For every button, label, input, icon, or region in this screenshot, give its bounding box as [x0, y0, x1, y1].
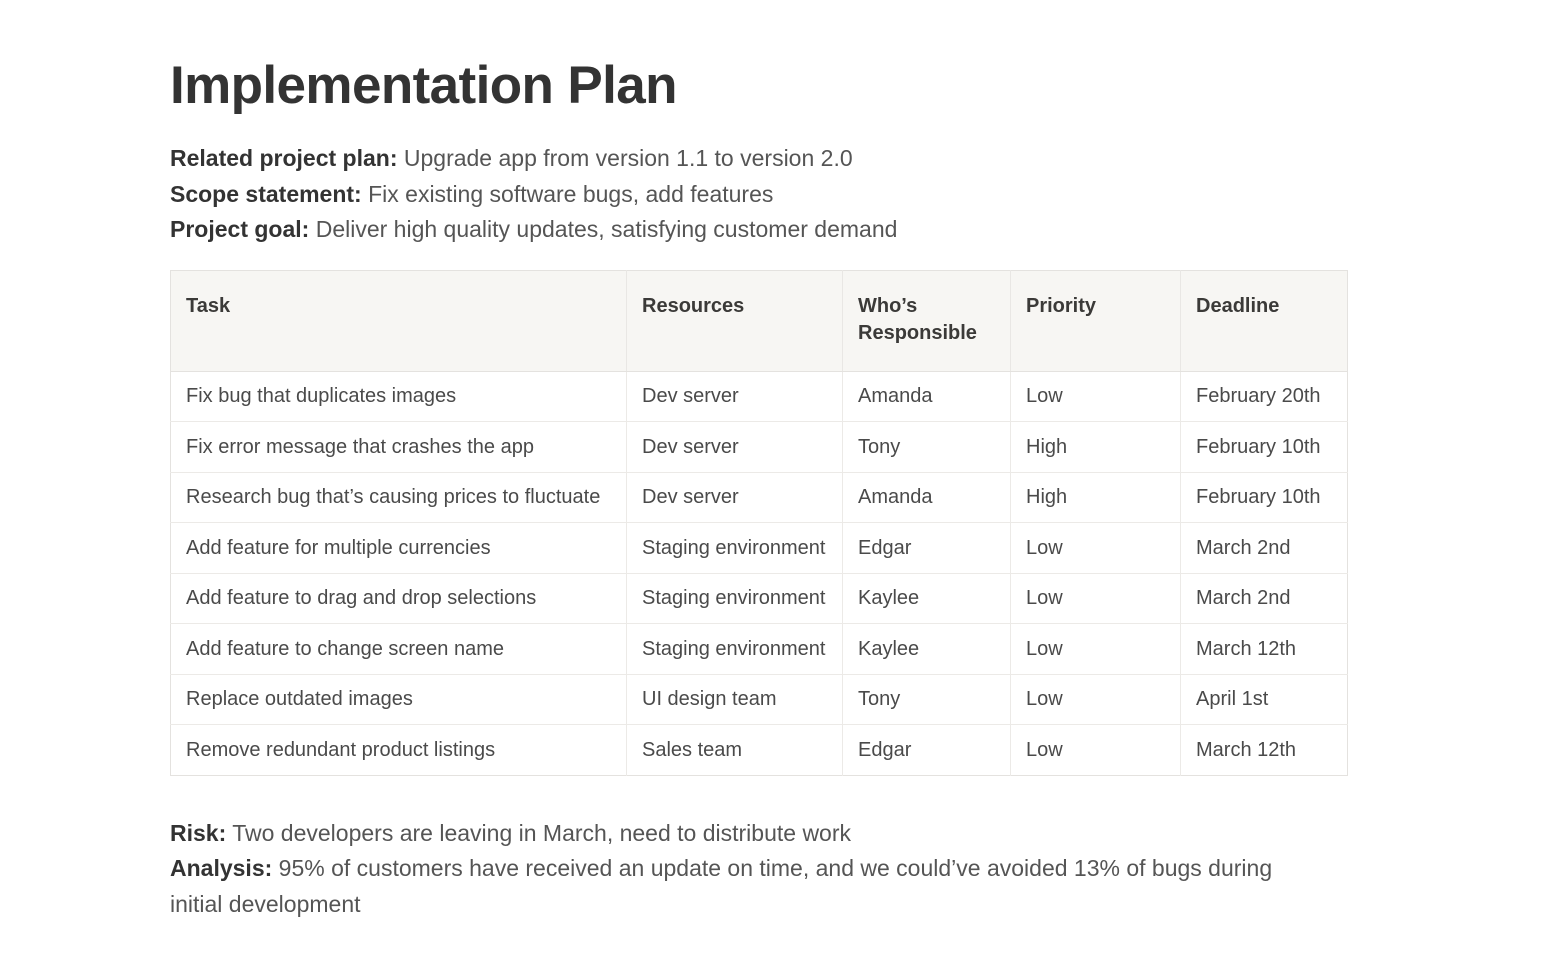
- cell-task: Add feature for multiple currencies: [171, 523, 627, 574]
- cell-task: Fix error message that crashes the app: [171, 422, 627, 473]
- note-line-analysis: Analysis: 95% of customers have received…: [170, 851, 1280, 922]
- cell-resources: Dev server: [627, 422, 843, 473]
- table-row: Add feature to drag and drop selections …: [171, 573, 1348, 624]
- meta-line-scope-statement: Scope statement: Fix existing software b…: [170, 177, 1552, 213]
- column-header-responsible: Who’s Responsible: [843, 270, 1011, 371]
- cell-priority: High: [1011, 422, 1181, 473]
- cell-deadline: February 20th: [1181, 371, 1348, 422]
- project-meta-block: Related project plan: Upgrade app from v…: [170, 141, 1552, 248]
- cell-task: Fix bug that duplicates images: [171, 371, 627, 422]
- cell-responsible: Tony: [843, 422, 1011, 473]
- document-page: Implementation Plan Related project plan…: [0, 0, 1552, 968]
- column-header-deadline: Deadline: [1181, 270, 1348, 371]
- cell-responsible: Amanda: [843, 472, 1011, 523]
- cell-resources: Sales team: [627, 725, 843, 776]
- table-row: Research bug that’s causing prices to fl…: [171, 472, 1348, 523]
- table-row: Remove redundant product listings Sales …: [171, 725, 1348, 776]
- meta-value: Fix existing software bugs, add features: [368, 181, 773, 207]
- cell-priority: Low: [1011, 725, 1181, 776]
- table-row: Fix error message that crashes the app D…: [171, 422, 1348, 473]
- cell-resources: Staging environment: [627, 624, 843, 675]
- meta-value: Deliver high quality updates, satisfying…: [316, 216, 898, 242]
- cell-deadline: April 1st: [1181, 674, 1348, 725]
- note-label: Risk:: [170, 820, 226, 846]
- cell-deadline: March 2nd: [1181, 523, 1348, 574]
- notes-block: Risk: Two developers are leaving in Marc…: [170, 816, 1552, 923]
- cell-responsible: Edgar: [843, 523, 1011, 574]
- cell-priority: Low: [1011, 624, 1181, 675]
- table-header-row: Task Resources Who’s Responsible Priorit…: [171, 270, 1348, 371]
- meta-line-related-project-plan: Related project plan: Upgrade app from v…: [170, 141, 1552, 177]
- cell-responsible: Amanda: [843, 371, 1011, 422]
- note-value: 95% of customers have received an update…: [170, 855, 1272, 917]
- table-row: Fix bug that duplicates images Dev serve…: [171, 371, 1348, 422]
- meta-line-project-goal: Project goal: Deliver high quality updat…: [170, 212, 1552, 248]
- meta-value: Upgrade app from version 1.1 to version …: [404, 145, 853, 171]
- implementation-plan-table: Task Resources Who’s Responsible Priorit…: [170, 270, 1348, 776]
- cell-task: Remove redundant product listings: [171, 725, 627, 776]
- cell-priority: Low: [1011, 371, 1181, 422]
- cell-task: Replace outdated images: [171, 674, 627, 725]
- cell-deadline: March 2nd: [1181, 573, 1348, 624]
- meta-label: Scope statement:: [170, 181, 362, 207]
- note-value: Two developers are leaving in March, nee…: [232, 820, 851, 846]
- note-label: Analysis:: [170, 855, 272, 881]
- table-row: Add feature for multiple currencies Stag…: [171, 523, 1348, 574]
- cell-priority: Low: [1011, 573, 1181, 624]
- table-body: Fix bug that duplicates images Dev serve…: [171, 371, 1348, 775]
- cell-responsible: Kaylee: [843, 573, 1011, 624]
- cell-responsible: Edgar: [843, 725, 1011, 776]
- cell-deadline: March 12th: [1181, 624, 1348, 675]
- cell-priority: High: [1011, 472, 1181, 523]
- table-row: Replace outdated images UI design team T…: [171, 674, 1348, 725]
- meta-label: Project goal:: [170, 216, 309, 242]
- note-line-risk: Risk: Two developers are leaving in Marc…: [170, 816, 1280, 852]
- cell-resources: Staging environment: [627, 523, 843, 574]
- table-row: Add feature to change screen name Stagin…: [171, 624, 1348, 675]
- page-title: Implementation Plan: [170, 56, 1552, 115]
- cell-task: Add feature to drag and drop selections: [171, 573, 627, 624]
- cell-resources: Staging environment: [627, 573, 843, 624]
- cell-priority: Low: [1011, 674, 1181, 725]
- cell-responsible: Tony: [843, 674, 1011, 725]
- column-header-resources: Resources: [627, 270, 843, 371]
- cell-deadline: February 10th: [1181, 422, 1348, 473]
- cell-resources: Dev server: [627, 371, 843, 422]
- cell-deadline: February 10th: [1181, 472, 1348, 523]
- column-header-task: Task: [171, 270, 627, 371]
- column-header-priority: Priority: [1011, 270, 1181, 371]
- cell-task: Add feature to change screen name: [171, 624, 627, 675]
- table-header: Task Resources Who’s Responsible Priorit…: [171, 270, 1348, 371]
- cell-resources: UI design team: [627, 674, 843, 725]
- cell-task: Research bug that’s causing prices to fl…: [171, 472, 627, 523]
- cell-responsible: Kaylee: [843, 624, 1011, 675]
- cell-priority: Low: [1011, 523, 1181, 574]
- cell-deadline: March 12th: [1181, 725, 1348, 776]
- meta-label: Related project plan:: [170, 145, 397, 171]
- cell-resources: Dev server: [627, 472, 843, 523]
